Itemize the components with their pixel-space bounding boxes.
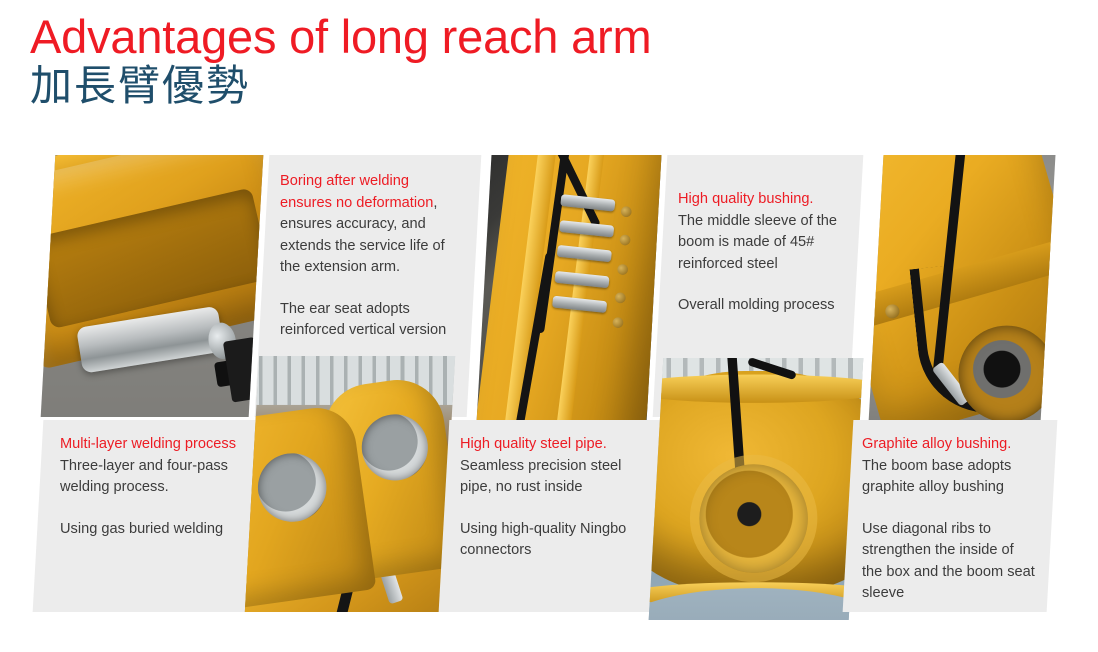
block-paragraph: Multi-layer welding process Three-layer … — [60, 434, 240, 499]
text-panel-graphite-alloy-bushing: Graphite alloy bushing. The boom base ad… — [843, 420, 1058, 612]
feature-collage: Boring after welding ensures no deformat… — [0, 148, 1098, 638]
page-title: Advantages of long reach arm — [30, 10, 1070, 64]
text-panel-multi-layer-welding: Multi-layer welding process Three-layer … — [33, 420, 260, 612]
block-paragraph: Graphite alloy bushing. The boom base ad… — [862, 434, 1038, 499]
block-paragraph-2: Use diagonal ribs to strengthen the insi… — [862, 519, 1038, 605]
block-paragraph-2: Using high-quality Ningbo connectors — [460, 519, 646, 562]
block-highlight: Boring after welding ensures no deformat… — [280, 173, 433, 211]
block-paragraph-2: Overall molding process — [678, 295, 842, 317]
photo-bored-ears — [245, 356, 455, 612]
block-paragraph: High quality steel pipe. Seamless precis… — [460, 434, 646, 499]
photo-boom-end-pin — [41, 155, 264, 417]
block-paragraph-rest: Seamless precision steel pipe, no rust i… — [460, 458, 621, 496]
photo-boom-base-boss — [649, 358, 864, 620]
block-paragraph-rest: The boom base adopts graphite alloy bush… — [862, 458, 1011, 496]
block-paragraph-2: Using gas buried welding — [60, 519, 240, 541]
block-paragraph: High quality bushing. The middle sleeve … — [678, 189, 842, 275]
page-header: Advantages of long reach arm 加長臂優勢 — [30, 10, 1070, 110]
text-panel-high-quality-steel-pipe: High quality steel pipe. Seamless precis… — [439, 420, 666, 612]
page-subtitle-chinese: 加長臂優勢 — [30, 62, 1070, 110]
photo-hydraulic-hoses — [477, 155, 662, 423]
block-highlight: Graphite alloy bushing. — [862, 436, 1011, 452]
block-highlight: Multi-layer welding process — [60, 436, 236, 452]
block-highlight: High quality bushing. — [678, 191, 813, 207]
block-paragraph: Boring after welding ensures no deformat… — [280, 171, 460, 279]
block-paragraph-rest: Three-layer and four-pass welding proces… — [60, 458, 228, 496]
block-paragraph-rest: The middle sleeve of the boom is made of… — [678, 213, 837, 272]
photo-boom-tip-bore — [869, 155, 1056, 423]
block-paragraph-2: The ear seat adopts reinforced vertical … — [280, 299, 460, 342]
block-highlight: High quality steel pipe. — [460, 436, 607, 452]
